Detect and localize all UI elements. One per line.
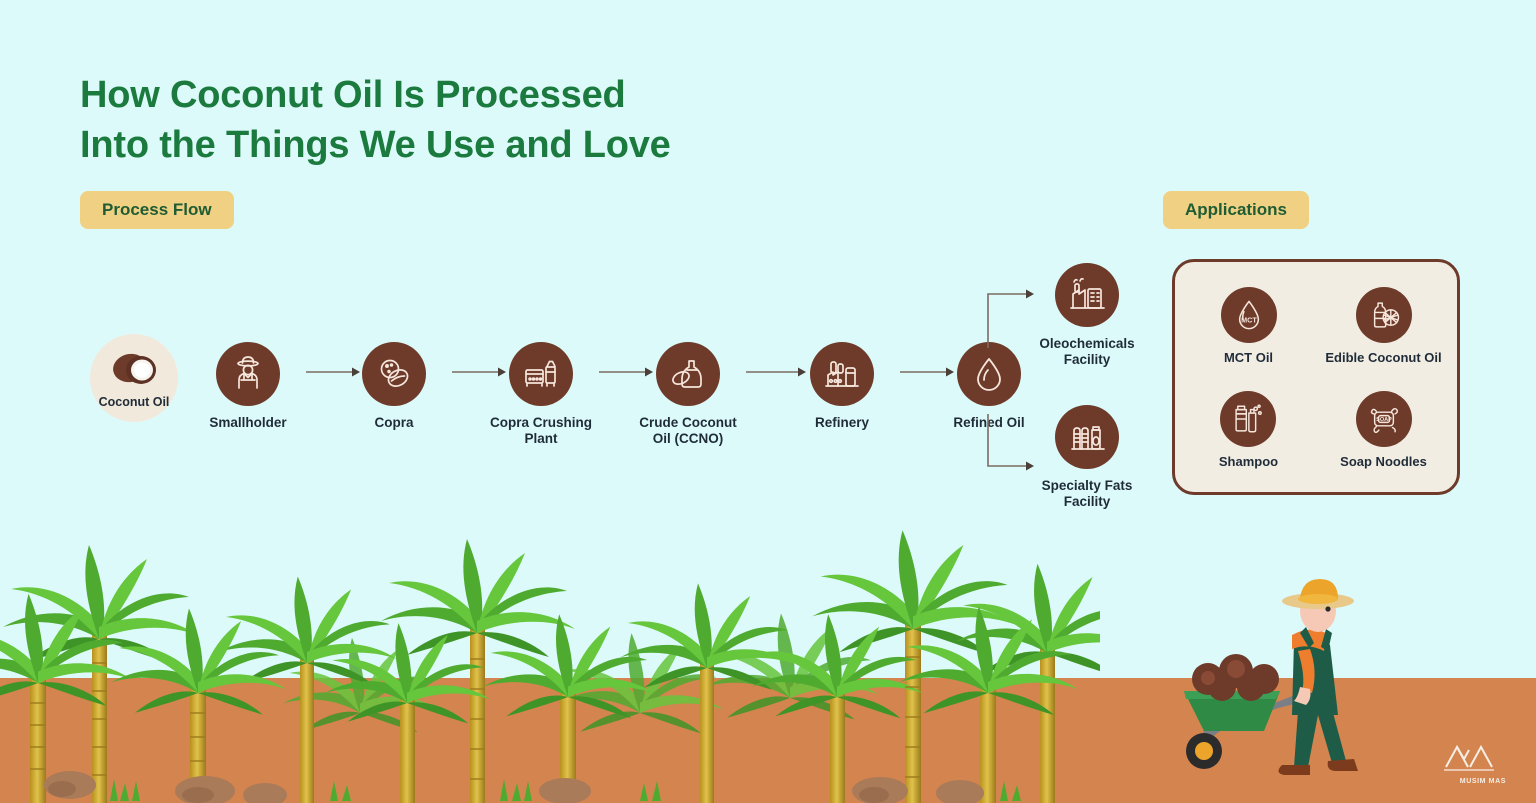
flow-node-crude-coconut-oil[interactable]: Crude Coconut Oil (CCNO) <box>618 342 758 447</box>
flow-arrow-3 <box>599 366 655 378</box>
crushing-plant-icon <box>509 342 573 406</box>
flow-arrow-2 <box>452 366 508 378</box>
applications-panel: MCT MCT Oil Edible Coconut Oil <box>1172 259 1460 495</box>
flow-node-coconut-oil[interactable]: Coconut Oil <box>90 334 178 422</box>
flow-node-refinery-label: Refinery <box>815 415 869 431</box>
svg-text:MCT: MCT <box>1241 316 1257 325</box>
flow-arrow-1 <box>306 366 362 378</box>
factory-icon <box>1055 263 1119 327</box>
farmer-with-wheelbarrow <box>1176 565 1396 795</box>
flow-node-specialty-fats-facility-label: Specialty Fats Facility <box>1042 478 1133 510</box>
mct-droplet-icon: MCT <box>1221 287 1277 343</box>
process-flow-badge: Process Flow <box>80 191 234 229</box>
oil-flask-icon <box>656 342 720 406</box>
flow-node-coconut-oil-label: Coconut Oil <box>99 395 170 409</box>
application-label-mct-oil: MCT Oil <box>1224 350 1273 365</box>
flow-node-smallholder-label: Smallholder <box>209 415 286 431</box>
edible-oil-bottle-icon <box>1356 287 1412 343</box>
palm-tree-grove <box>0 463 1100 803</box>
refinery-icon <box>810 342 874 406</box>
farmer-icon <box>216 342 280 406</box>
oil-droplet-icon <box>957 342 1021 406</box>
flow-node-smallholder[interactable]: Smallholder <box>178 342 318 431</box>
flow-arrow-4 <box>746 366 808 378</box>
copra-icon <box>362 342 426 406</box>
soap-bar-icon: SOAP <box>1356 391 1412 447</box>
flow-arrow-branch-up <box>982 286 1040 348</box>
application-item-soap-noodles[interactable]: SOAP Soap Noodles <box>1340 391 1427 469</box>
flow-node-crude-coconut-oil-label: Crude Coconut Oil (CCNO) <box>639 415 737 447</box>
flow-node-copra[interactable]: Copra <box>324 342 464 431</box>
flow-arrow-5 <box>900 366 956 378</box>
specialty-fats-icon <box>1055 405 1119 469</box>
application-item-mct-oil[interactable]: MCT MCT Oil <box>1221 287 1277 365</box>
shampoo-bottle-icon <box>1220 391 1276 447</box>
application-label-edible-coconut-oil: Edible Coconut Oil <box>1325 350 1441 365</box>
flow-node-oleochemicals-facility-label: Oleochemicals Facility <box>1039 336 1134 368</box>
musim-mas-logo <box>1438 737 1500 781</box>
applications-badge: Applications <box>1163 191 1309 229</box>
svg-text:SOAP: SOAP <box>1376 417 1392 423</box>
application-item-shampoo[interactable]: Shampoo <box>1219 391 1278 469</box>
flow-node-copra-label: Copra <box>374 415 413 431</box>
flow-arrow-branch-down <box>982 414 1040 474</box>
flow-node-copra-crushing-plant[interactable]: Copra Crushing Plant <box>471 342 611 447</box>
application-label-soap-noodles: Soap Noodles <box>1340 454 1427 469</box>
page-title: How Coconut Oil Is Processed Into the Th… <box>80 70 671 170</box>
flow-node-copra-crushing-plant-label: Copra Crushing Plant <box>490 415 592 447</box>
infographic-canvas: How Coconut Oil Is Processed Into the Th… <box>0 0 1536 803</box>
musim-mas-logo-text: MUSIM MAS <box>1460 778 1506 785</box>
coconut-icon <box>108 348 160 393</box>
flow-node-refinery[interactable]: Refinery <box>772 342 912 431</box>
application-item-edible-coconut-oil[interactable]: Edible Coconut Oil <box>1325 287 1441 365</box>
application-label-shampoo: Shampoo <box>1219 454 1278 469</box>
